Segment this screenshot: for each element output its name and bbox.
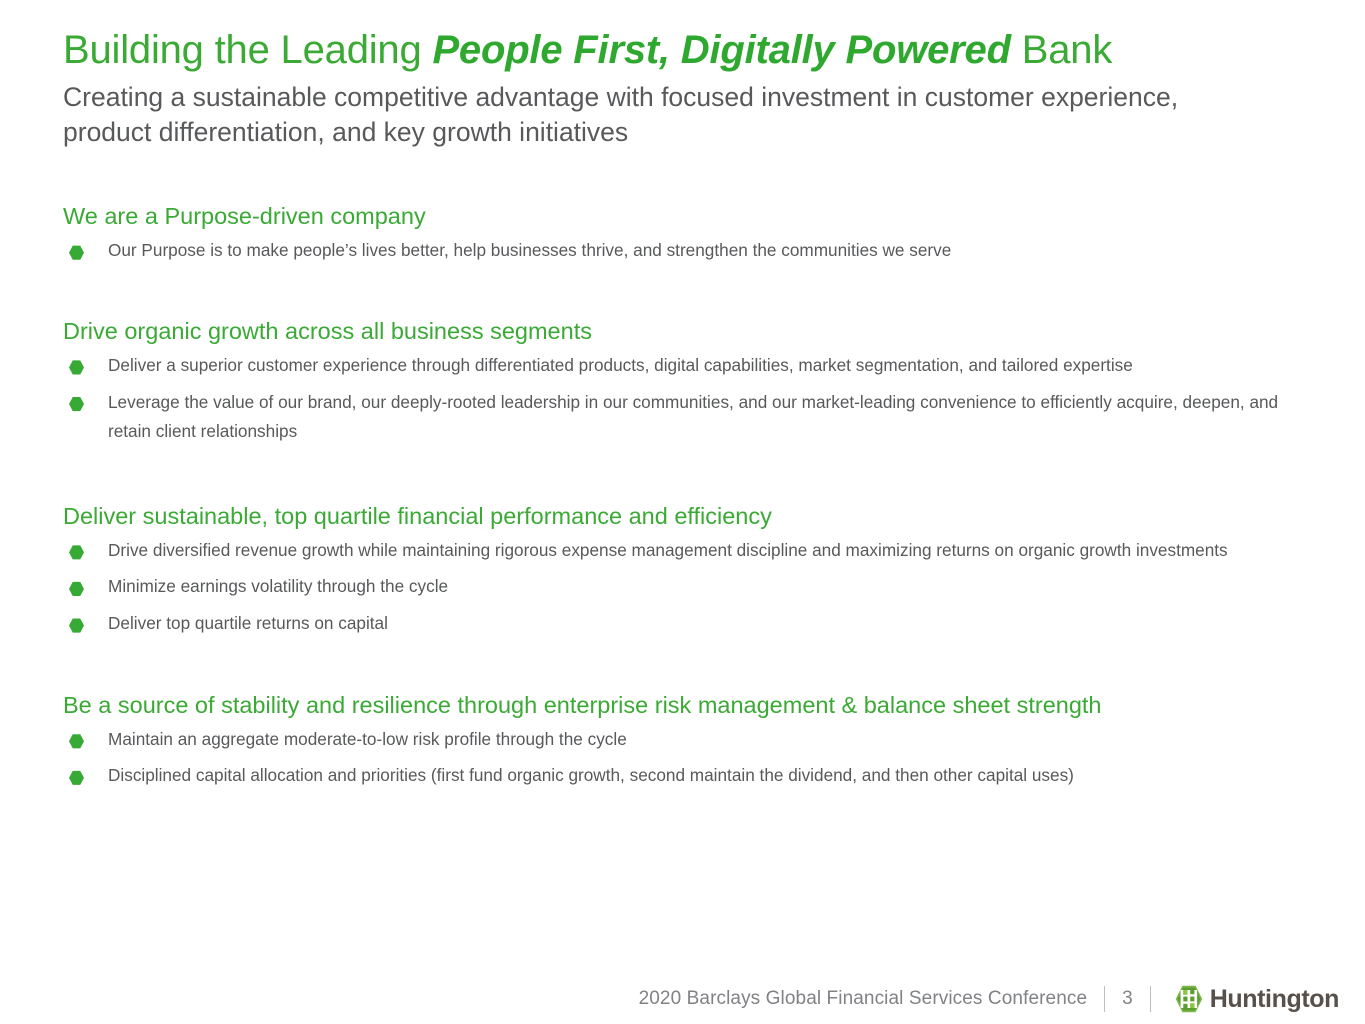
section-spacer (63, 273, 1325, 317)
list-item: Disciplined capital allocation and prior… (63, 761, 1325, 791)
footer-conference-name: 2020 Barclays Global Financial Services … (639, 988, 1088, 1010)
list-item-label: Deliver top quartile returns on capital (108, 613, 388, 633)
huntington-pinwheel-icon (1174, 984, 1204, 1014)
hexagon-bullet-icon (69, 618, 84, 633)
section-purpose-driven: We are a Purpose-driven company Our Purp… (63, 202, 1325, 266)
content-body: We are a Purpose-driven company Our Purp… (63, 202, 1325, 798)
title-emphasis: People First, Digitally Powered (432, 28, 1010, 72)
list-item: Drive diversified revenue growth while m… (63, 536, 1325, 566)
bullet-list: Deliver a superior customer experience t… (63, 351, 1325, 447)
hexagon-bullet-icon (69, 545, 84, 560)
bullet-list: Drive diversified revenue growth while m… (63, 536, 1325, 639)
hexagon-bullet-icon (69, 360, 84, 375)
list-item: Deliver top quartile returns on capital (63, 609, 1325, 639)
list-item-label: Minimize earnings volatility through the… (108, 576, 448, 596)
list-item-label: Leverage the value of our brand, our dee… (108, 392, 1278, 442)
footer-divider (1104, 986, 1105, 1012)
list-item: Deliver a superior customer experience t… (63, 351, 1325, 381)
hexagon-bullet-icon (69, 734, 84, 749)
title-trail: Bank (1011, 28, 1112, 72)
footer-divider (1150, 986, 1151, 1012)
bullet-list: Our Purpose is to make people’s lives be… (63, 236, 1325, 266)
hexagon-bullet-icon (69, 245, 84, 260)
list-item: Our Purpose is to make people’s lives be… (63, 236, 1325, 266)
hexagon-bullet-icon (69, 581, 84, 596)
section-financial-performance: Deliver sustainable, top quartile financ… (63, 502, 1325, 639)
section-heading: We are a Purpose-driven company (63, 202, 1325, 230)
section-organic-growth: Drive organic growth across all business… (63, 317, 1325, 447)
hexagon-bullet-icon (69, 770, 84, 785)
slide: Building the Leading People First, Digit… (0, 0, 1365, 1024)
section-heading: Deliver sustainable, top quartile financ… (63, 502, 1325, 530)
title-area: Building the Leading People First, Digit… (63, 28, 1323, 151)
list-item-label: Our Purpose is to make people’s lives be… (108, 240, 951, 260)
title-lead: Building the Leading (63, 28, 432, 72)
section-heading: Drive organic growth across all business… (63, 317, 1325, 345)
huntington-wordmark: Huntington (1210, 987, 1339, 1012)
page-subtitle: Creating a sustainable competitive advan… (63, 80, 1228, 151)
section-spacer (63, 454, 1325, 502)
page-number: 3 (1122, 988, 1133, 1010)
slide-footer: 2020 Barclays Global Financial Services … (0, 975, 1365, 1023)
bullet-list: Maintain an aggregate moderate-to-low ri… (63, 725, 1325, 791)
list-item-label: Disciplined capital allocation and prior… (108, 765, 1074, 785)
section-spacer (63, 646, 1325, 691)
section-heading: Be a source of stability and resilience … (63, 691, 1325, 719)
list-item: Minimize earnings volatility through the… (63, 572, 1325, 602)
list-item-label: Maintain an aggregate moderate-to-low ri… (108, 729, 627, 749)
list-item-label: Drive diversified revenue growth while m… (108, 540, 1228, 560)
page-title: Building the Leading People First, Digit… (63, 28, 1323, 73)
hexagon-bullet-icon (69, 397, 84, 412)
list-item: Leverage the value of our brand, our dee… (63, 388, 1325, 447)
list-item-label: Deliver a superior customer experience t… (108, 355, 1133, 375)
section-stability-resilience: Be a source of stability and resilience … (63, 691, 1325, 791)
huntington-logo: Huntington (1174, 984, 1339, 1014)
list-item: Maintain an aggregate moderate-to-low ri… (63, 725, 1325, 755)
